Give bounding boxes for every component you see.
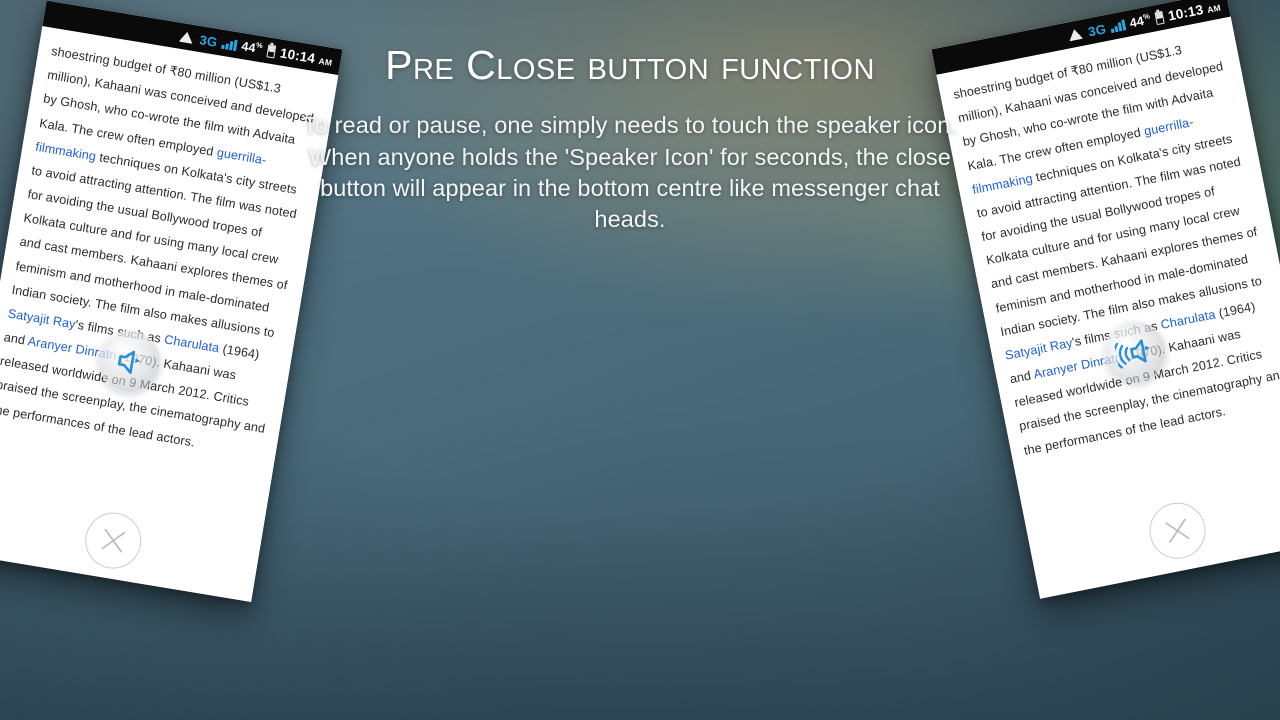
speaker-playing-icon bbox=[1113, 332, 1157, 373]
network-label: 3G bbox=[1087, 21, 1107, 39]
battery-percent-label: 44% bbox=[240, 38, 263, 56]
signal-bars-icon bbox=[1110, 19, 1126, 33]
close-button-right[interactable] bbox=[1145, 498, 1211, 564]
close-icon bbox=[94, 521, 133, 560]
wifi-icon bbox=[1068, 27, 1085, 41]
clock-label: 10:14 AM bbox=[279, 45, 334, 68]
battery-icon bbox=[266, 44, 276, 58]
battery-percent-label: 44% bbox=[1128, 12, 1152, 31]
network-label: 3G bbox=[199, 32, 219, 50]
battery-icon bbox=[1154, 10, 1164, 24]
close-icon bbox=[1158, 511, 1198, 551]
wifi-icon bbox=[179, 30, 196, 43]
close-button-left[interactable] bbox=[81, 508, 145, 572]
signal-bars-icon bbox=[221, 37, 237, 50]
speaker-icon bbox=[110, 342, 149, 381]
